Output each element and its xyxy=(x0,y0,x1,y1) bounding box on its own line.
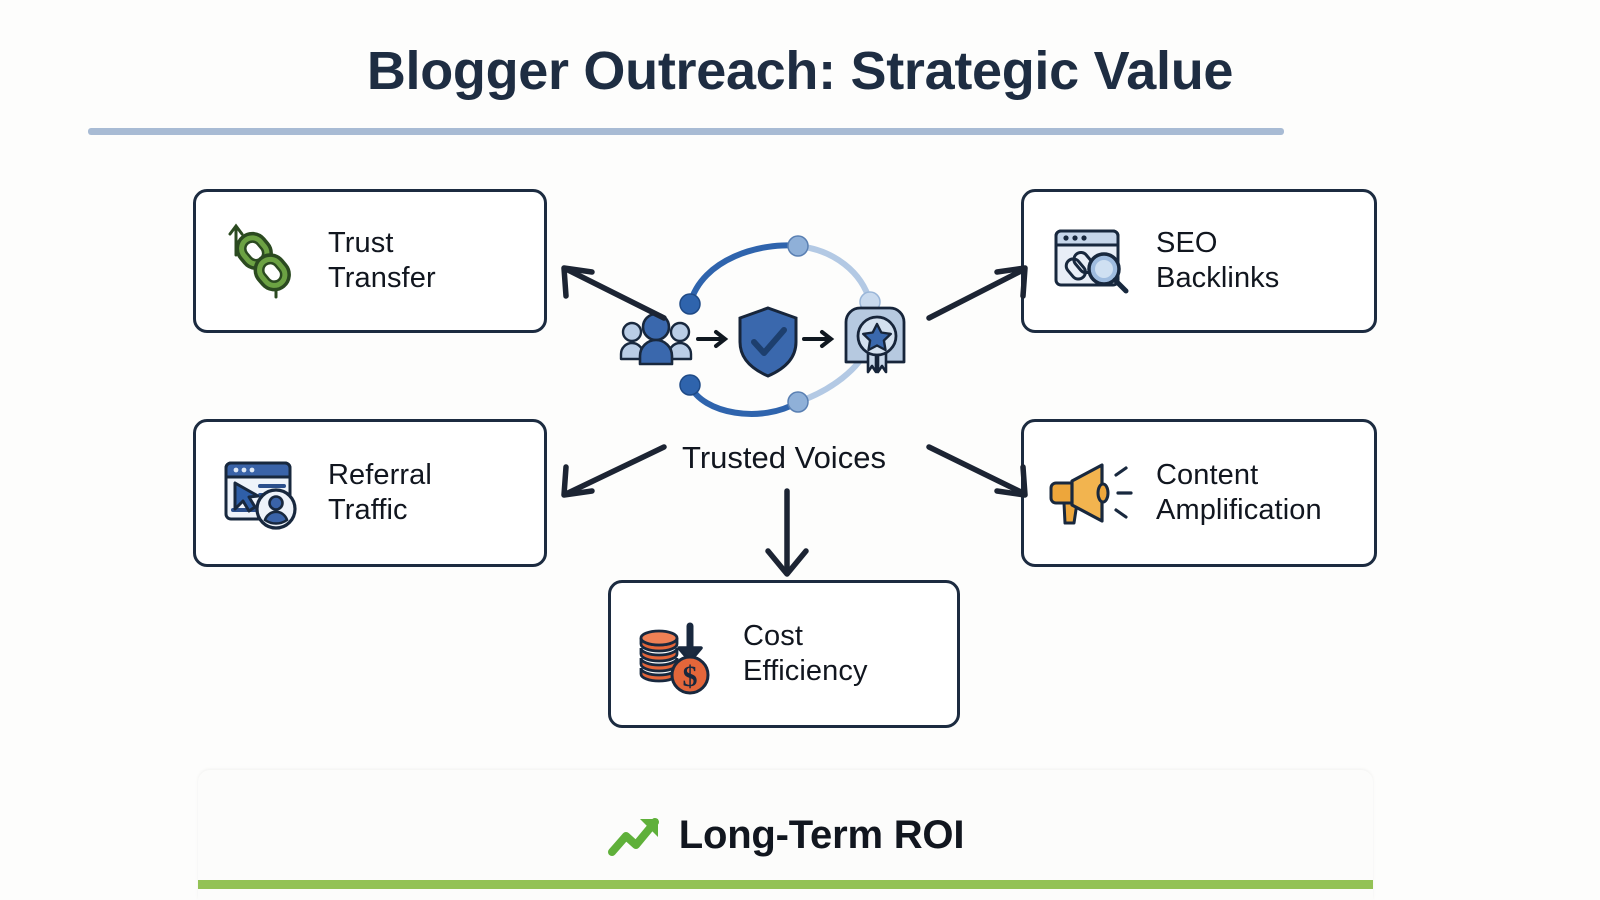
arrow-up-right-icon xyxy=(925,248,1035,328)
card-referral-traffic[interactable]: Referral Traffic xyxy=(193,419,547,567)
svg-text:$: $ xyxy=(683,660,698,693)
card-label-seo-backlinks: SEO Backlinks xyxy=(1156,226,1279,297)
coin-stack-down-arrow-icon: $ xyxy=(633,608,725,700)
card-content-amplification[interactable]: Content Amplification xyxy=(1021,419,1377,567)
card-cost-efficiency[interactable]: $ Cost Efficiency xyxy=(608,580,960,728)
flow-arrow-1-icon xyxy=(698,332,725,346)
trending-up-icon xyxy=(607,812,663,858)
card-seo-backlinks[interactable]: SEO Backlinks xyxy=(1021,189,1377,333)
roi-accent-bar xyxy=(198,880,1373,889)
arrow-up-left-icon xyxy=(552,248,672,328)
megaphone-icon xyxy=(1046,447,1138,539)
card-label-referral-traffic: Referral Traffic xyxy=(328,458,432,529)
hub-arc-lower-dark xyxy=(690,385,798,414)
hub-arc-upper-light xyxy=(798,246,870,302)
page-title: Blogger Outreach: Strategic Value xyxy=(0,42,1600,101)
browser-cursor-user-icon xyxy=(218,447,310,539)
chain-link-up-arrows-icon xyxy=(218,215,310,307)
flow-arrow-2-icon xyxy=(804,332,831,346)
infographic-canvas: Blogger Outreach: Strategic Value Trus xyxy=(0,0,1600,900)
award-badge-icon xyxy=(846,308,904,372)
arrow-down-left-icon xyxy=(552,435,672,515)
arrow-down-right-icon xyxy=(925,435,1035,515)
card-trust-transfer[interactable]: Trust Transfer xyxy=(193,189,547,333)
card-label-trust-transfer: Trust Transfer xyxy=(328,226,436,297)
arrow-down-icon xyxy=(742,487,832,582)
card-label-content-amplification: Content Amplification xyxy=(1156,458,1322,529)
browser-link-magnifier-icon xyxy=(1046,215,1138,307)
title-divider xyxy=(88,128,1284,135)
shield-check-icon xyxy=(740,308,796,376)
hub-arc-upper-dark xyxy=(690,245,798,304)
card-label-cost-efficiency: Cost Efficiency xyxy=(743,619,868,690)
long-term-roi-label: Long-Term ROI xyxy=(679,813,965,858)
